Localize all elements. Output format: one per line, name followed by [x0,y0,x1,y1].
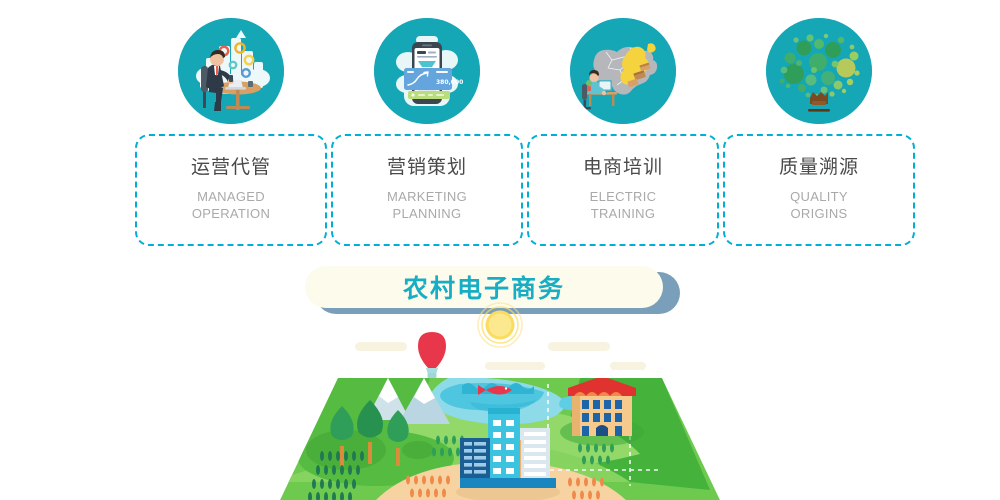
rural-landscape-illustration: H [280,300,720,500]
svg-text:H: H [598,367,606,378]
feature-title-cn: 电商培训 [583,158,663,179]
feature-title-en-line2: OPERATION [192,205,270,222]
feature-title-en-line1: QUALITY [790,188,848,205]
feature-title-en-line2: ORIGINS [790,205,848,222]
feature-card-electric-training[interactable]: 电商培训 ELECTRIC TRAINING [527,134,719,246]
svg-text:380,000: 380,000 [436,79,463,86]
hot-air-balloon-icon [418,332,446,378]
feature-title-cn: 运营代管 [191,158,271,179]
feature-title-cn: 营销策划 [387,158,467,179]
feature-card-marketing-planning[interactable]: 营销策划 MARKETING PLANNING [331,134,523,246]
feature-item-managed-operation[interactable]: 运营代管 MANAGED OPERATION [135,18,327,246]
bubble-tree-icon [766,18,872,124]
feature-list: 运营代管 MANAGED OPERATION [135,18,915,248]
businessman-desk-city-icon [178,18,284,124]
feature-title-en-line2: PLANNING [387,205,467,222]
hotel-building: H [560,364,644,446]
feature-title-en: MANAGED OPERATION [192,188,270,223]
feature-item-marketing-planning[interactable]: 380,000 营销策划 MARKETING [331,18,523,246]
feature-title-en: QUALITY ORIGINS [790,188,848,223]
feature-title-en-line1: MARKETING [387,188,467,205]
feature-title-en-line1: ELECTRIC [590,188,657,205]
land-plot: H [280,364,720,500]
feature-item-electric-training[interactable]: 电商培训 ELECTRIC TRAINING [527,18,719,246]
feature-item-quality-origins[interactable]: 质量溯源 QUALITY ORIGINS [723,18,915,246]
sun-icon [478,303,522,347]
feature-title-en: MARKETING PLANNING [387,188,467,223]
feature-card-quality-origins[interactable]: 质量溯源 QUALITY ORIGINS [723,134,915,246]
feature-title-cn: 质量溯源 [779,158,859,179]
feature-title-en: ELECTRIC TRAINING [590,188,657,223]
feature-title-en-line2: TRAINING [590,205,657,222]
smartphone-analytics-icon: 380,000 [374,18,480,124]
feature-card-managed-operation[interactable]: 运营代管 MANAGED OPERATION [135,134,327,246]
feature-title-en-line1: MANAGED [192,188,270,205]
china-map-desk-icon [570,18,676,124]
infographic-canvas: 运营代管 MANAGED OPERATION [0,0,1000,500]
